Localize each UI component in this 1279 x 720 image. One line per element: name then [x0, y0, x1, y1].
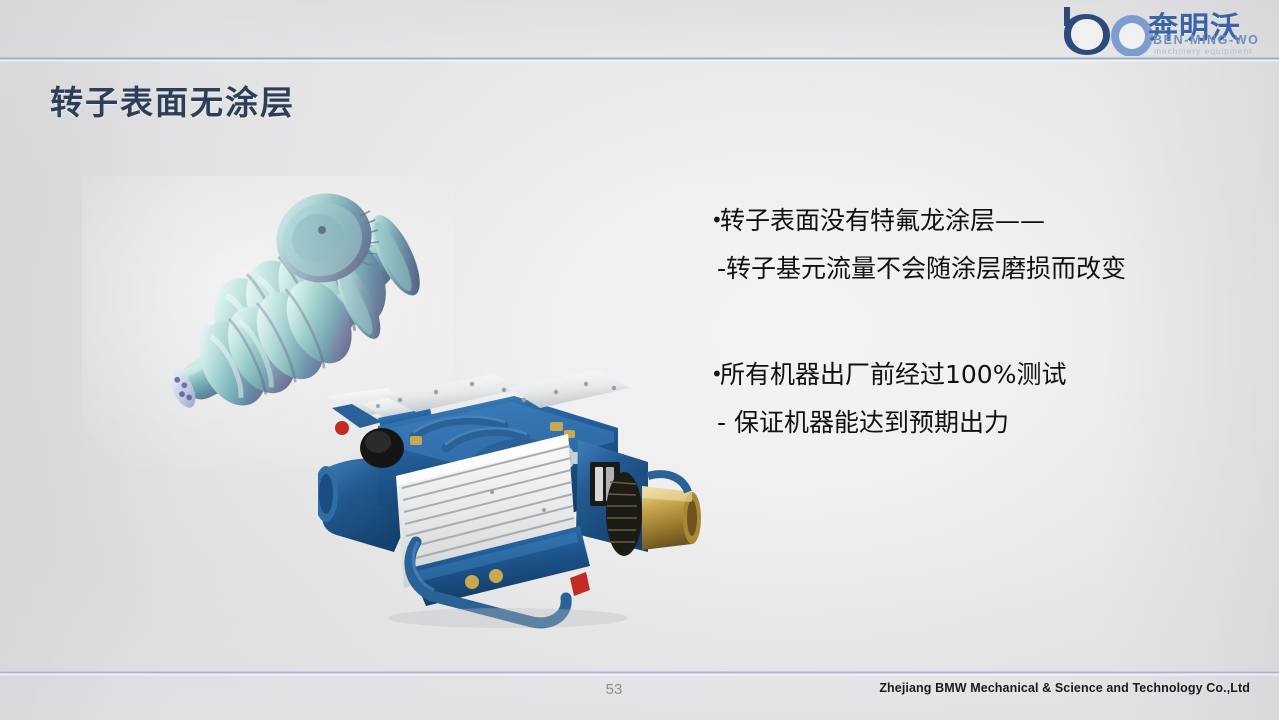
page-title: 转子表面无涂层 — [50, 76, 295, 124]
footer-divider-highlight — [0, 674, 1279, 676]
company-logo: 奔明沃 BEN-MING-WO machinery equipment — [1056, 2, 1271, 58]
bullet-1-sub: -转子基元流量不会随涂层磨损而改变 — [711, 254, 1231, 285]
logo-tagline: machinery equipment — [1154, 46, 1252, 56]
bullet-list: •转子表面没有特氟龙涂层—— -转子基元流量不会随涂层磨损而改变 •所有机器出厂… — [711, 206, 1231, 438]
bullet-1-main: •转子表面没有特氟龙涂层—— — [711, 206, 1231, 237]
bullet-2-main-text: 所有机器出厂前经过100%测试 — [720, 360, 1066, 389]
bullet-marker: • — [711, 362, 720, 386]
footer-company-name: Zhejiang BMW Mechanical & Science and Te… — [879, 681, 1250, 695]
bullet-2-main: •所有机器出厂前经过100%测试 — [711, 360, 1231, 391]
slide: 奔明沃 BEN-MING-WO machinery equipment 转子表面… — [0, 0, 1279, 720]
bullet-block-2: •所有机器出厂前经过100%测试 - 保证机器能达到预期出力 — [711, 360, 1231, 438]
bullet-block-1: •转子表面没有特氟龙涂层—— -转子基元流量不会随涂层磨损而改变 — [711, 206, 1231, 284]
logo-english-name: BEN-MING-WO — [1153, 33, 1259, 47]
bullet-2-sub: - 保证机器能达到预期出力 — [711, 408, 1231, 439]
screw-compressor-photo — [318, 366, 728, 634]
bo-monogram-icon — [1058, 4, 1162, 56]
header-divider-highlight — [0, 60, 1279, 62]
bullet-marker: • — [711, 208, 720, 232]
bullet-1-main-text: 转子表面没有特氟龙涂层—— — [720, 206, 1045, 235]
